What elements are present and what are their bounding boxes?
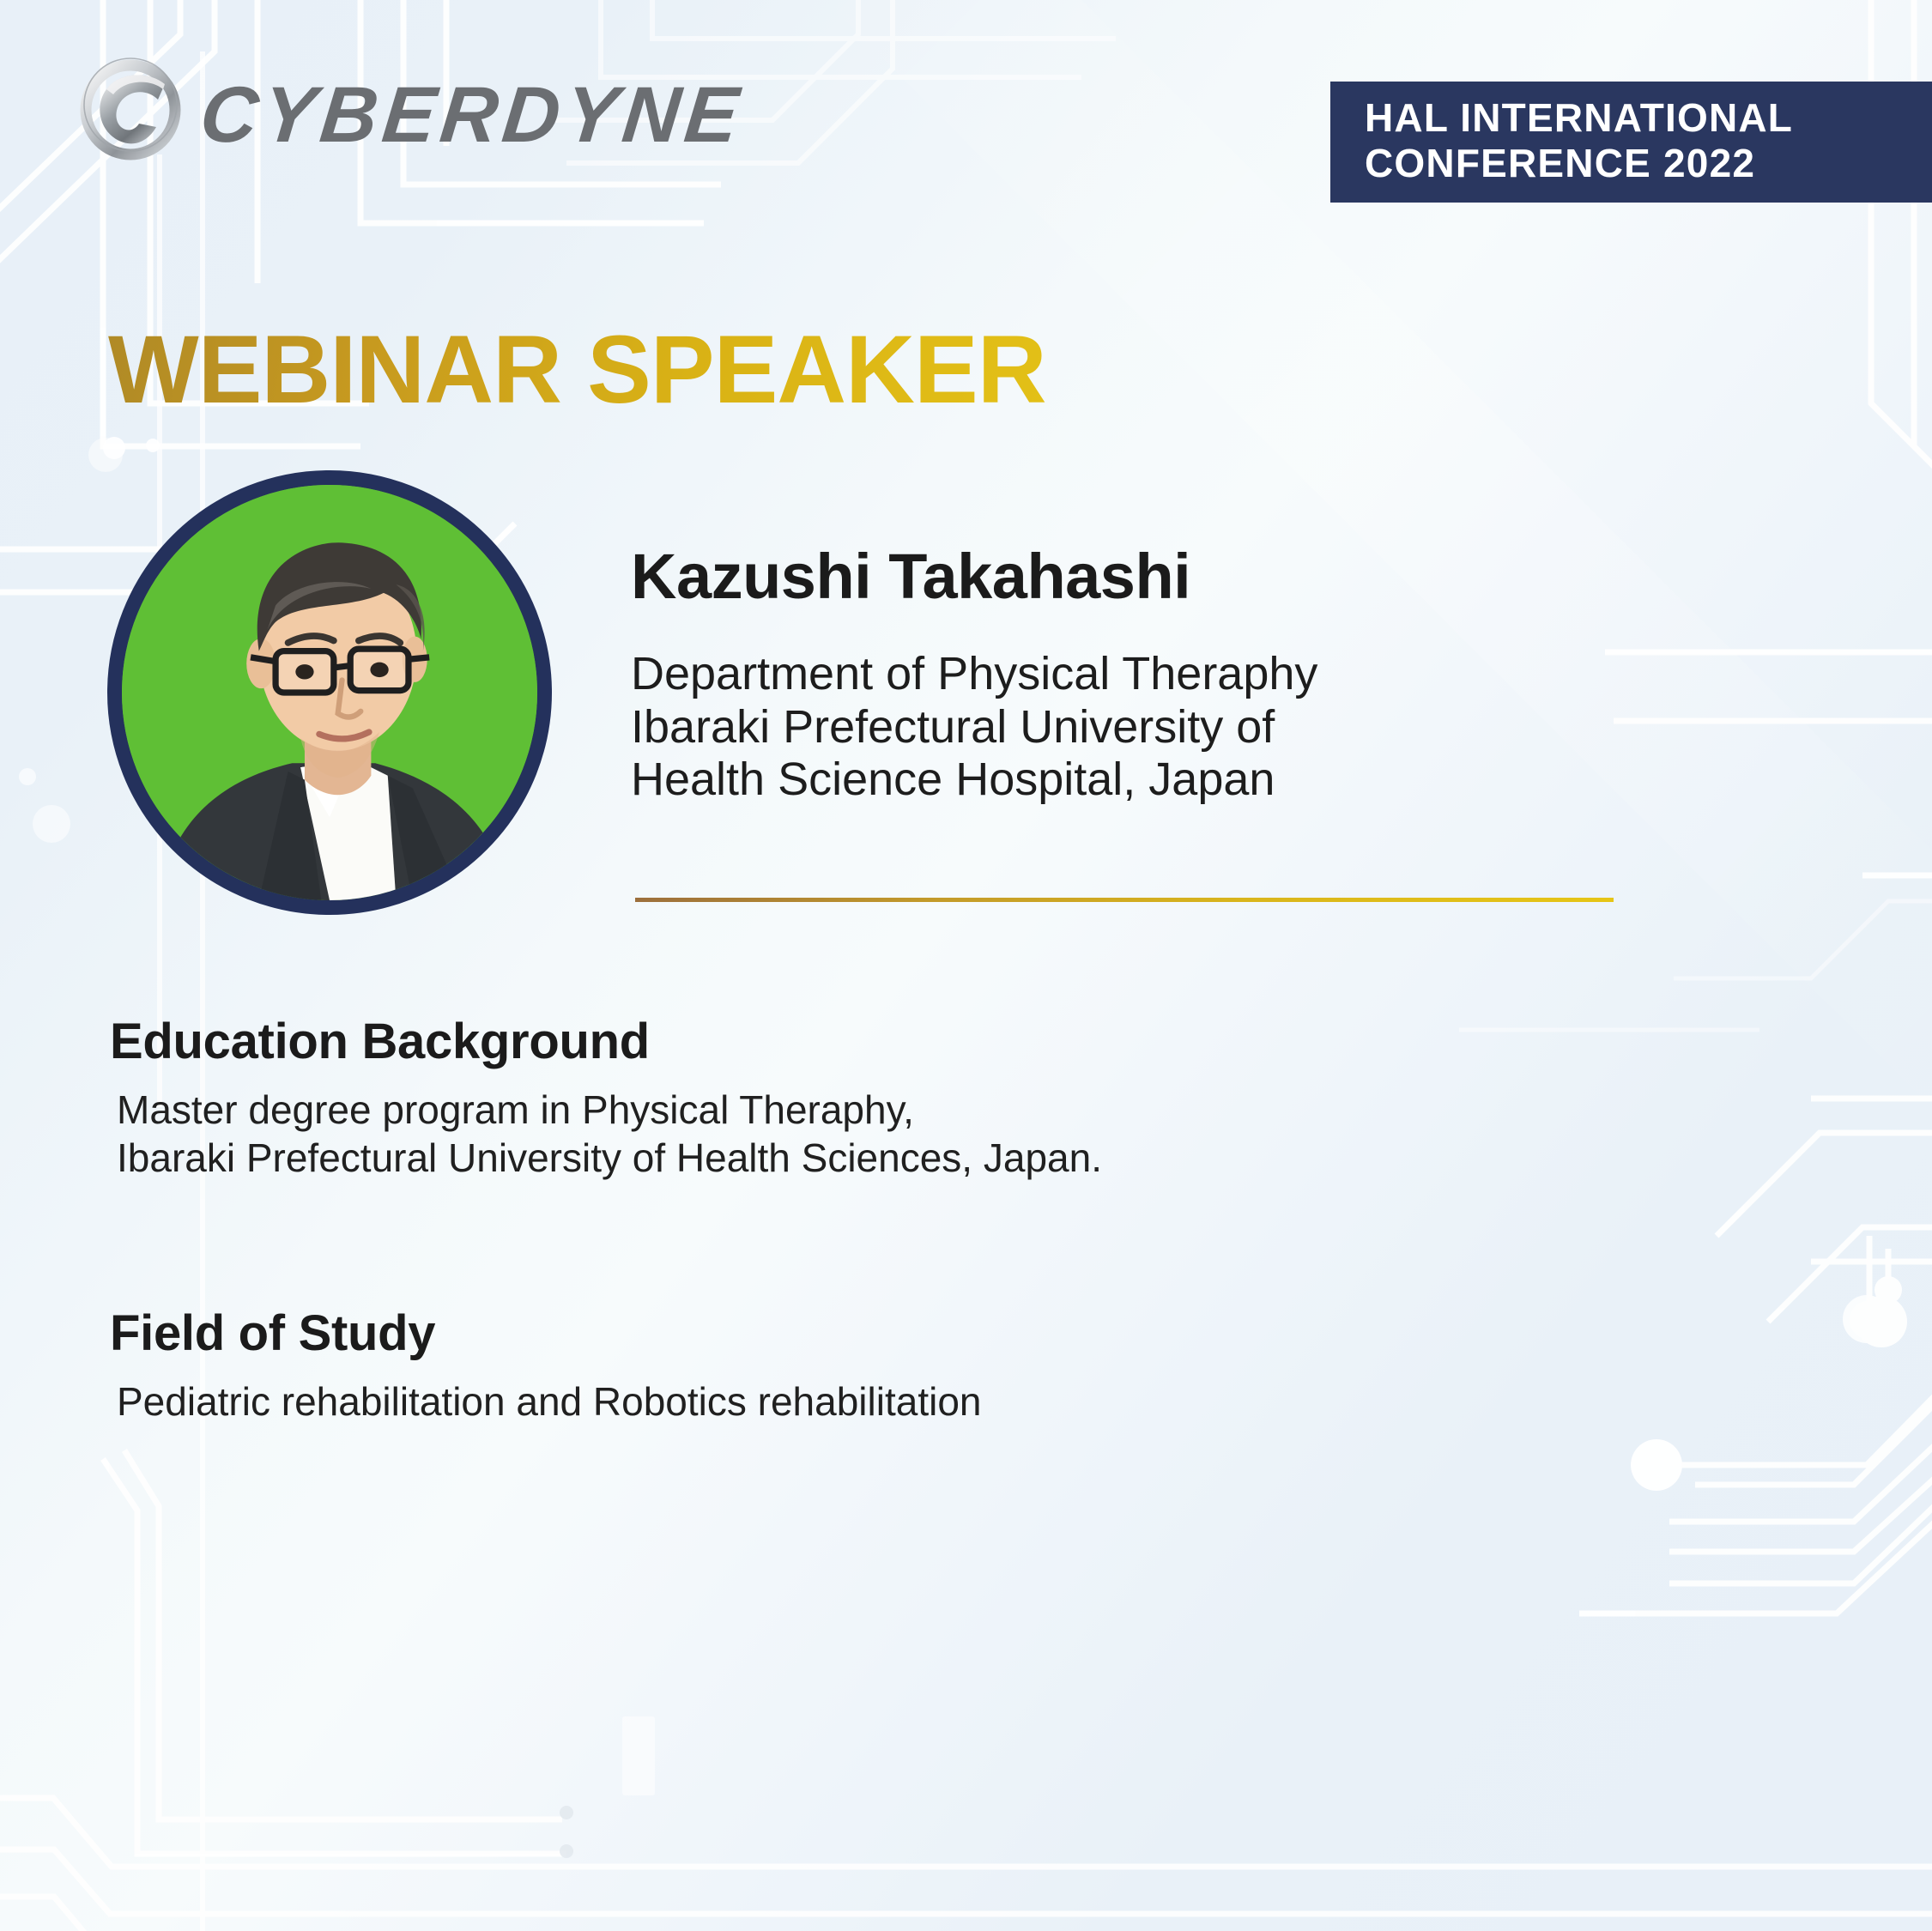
speaker-affiliation-line: Ibaraki Prefectural University of — [631, 701, 1618, 754]
section-heading: Field of Study — [110, 1309, 1569, 1359]
conference-banner: HAL INTERNATIONAL CONFERENCE 2022 — [1330, 82, 1932, 203]
circuit-pattern-background — [0, 0, 1932, 1931]
cyberdyne-logo: CYBERDYNE — [76, 53, 743, 163]
cyberdyne-wordmark: CYBERDYNE — [197, 76, 747, 154]
section-education-background: Education Background Master degree progr… — [110, 1017, 1569, 1182]
speaker-avatar — [107, 470, 552, 915]
speaker-affiliation: Department of Physical Theraphy Ibaraki … — [631, 648, 1618, 807]
conference-banner-line2: CONFERENCE 2022 — [1365, 141, 1932, 186]
webinar-speaker-poster: CYBERDYNE HAL INTERNATIONAL CONFERENCE 2… — [0, 0, 1932, 1931]
section-heading: Education Background — [110, 1017, 1569, 1067]
speaker-details: Kazushi Takahashi Department of Physical… — [631, 545, 1618, 807]
section-body-line: Pediatric rehabilitation and Robotics re… — [117, 1379, 982, 1424]
section-body: Master degree program in Physical Therap… — [110, 1086, 1569, 1182]
speaker-affiliation-line: Department of Physical Theraphy — [631, 648, 1618, 701]
speaker-affiliation-line: Health Science Hospital, Japan — [631, 754, 1618, 807]
cyberdyne-c-logo-icon — [76, 53, 185, 163]
gold-divider — [635, 898, 1614, 902]
conference-banner-line1: HAL INTERNATIONAL — [1365, 95, 1932, 141]
section-body-line: Master degree program in Physical Therap… — [117, 1087, 914, 1132]
page-title: WEBINAR SPEAKER — [108, 322, 1046, 418]
section-body: Pediatric rehabilitation and Robotics re… — [110, 1377, 1569, 1426]
speaker-name: Kazushi Takahashi — [631, 545, 1618, 608]
section-body-line: Ibaraki Prefectural University of Health… — [117, 1135, 1102, 1180]
speaker-portrait-illustration — [122, 485, 537, 900]
section-field-of-study: Field of Study Pediatric rehabilitation … — [110, 1309, 1569, 1426]
